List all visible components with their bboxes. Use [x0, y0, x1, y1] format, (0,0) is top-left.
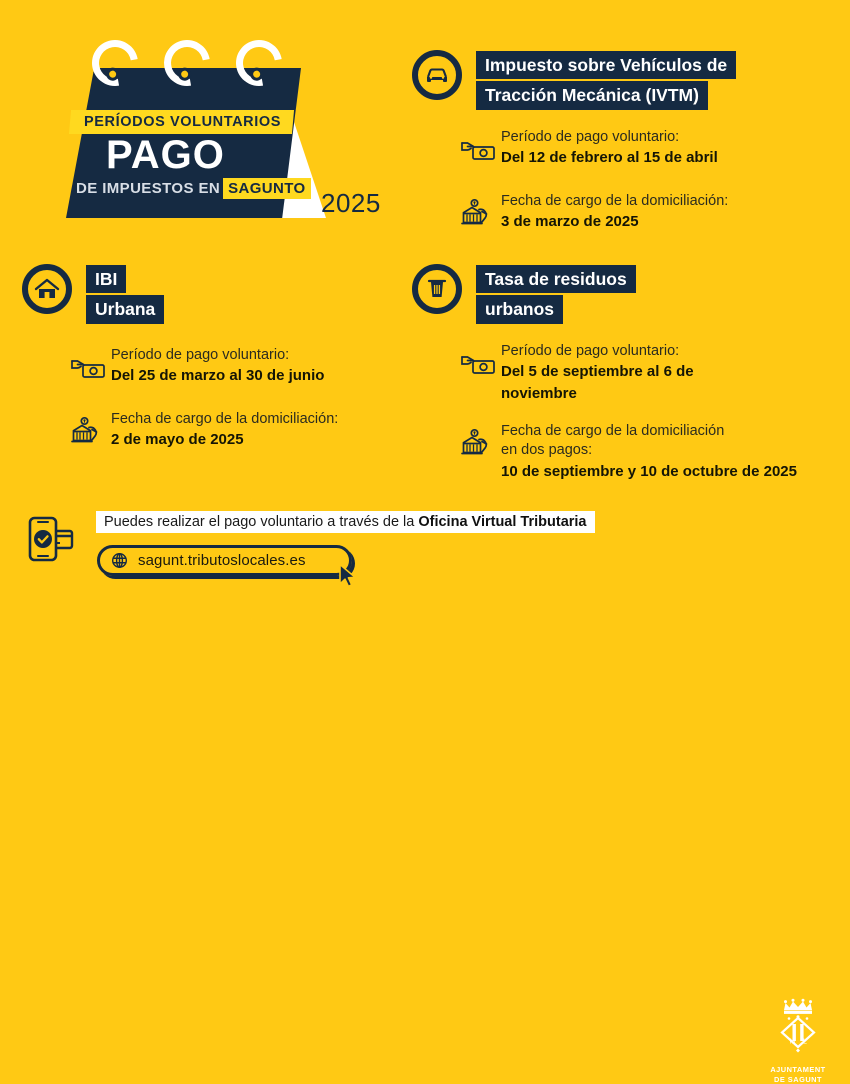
detail-label: Fecha de cargo de la domiciliación:	[111, 410, 338, 430]
hand-money-icon	[455, 342, 501, 384]
footer-message: Puedes realizar el pago voluntario a tra…	[96, 511, 595, 533]
detail-value: 3 de marzo de 2025	[501, 212, 728, 232]
detail-value: 2 de mayo de 2025	[111, 430, 338, 450]
section-residuos-title: Tasa de residuos urbanos	[476, 264, 636, 326]
detail-value: 10 de septiembre y 10 de octubre de 2025	[501, 462, 797, 482]
infographic-canvas: PERÍODOS VOLUNTARIOS PAGO DE IMPUESTOS E…	[0, 0, 850, 615]
cursor-arrow-icon	[338, 563, 358, 594]
crest-letter-m: M	[790, 1039, 796, 1046]
sagunt-crest-icon: M L	[767, 997, 829, 1057]
bank-payment-icon	[455, 422, 501, 464]
section-ivtm-title: Impuesto sobre Vehículos de Tracción Mec…	[476, 50, 736, 112]
detail-label: Fecha de cargo de la domiciliación	[501, 422, 797, 442]
section-ibi-title: IBI Urbana	[86, 264, 164, 326]
detail-row: Período de pago voluntario: Del 25 de ma…	[65, 346, 402, 388]
section-residuos-header: Tasa de residuos urbanos	[412, 264, 842, 326]
section-ivtm: Impuesto sobre Vehículos de Tracción Mec…	[412, 50, 832, 234]
header-subtitle-plain: DE IMPUESTOS EN	[76, 180, 220, 197]
detail-label: Período de pago voluntario:	[501, 128, 718, 148]
crest-letter-l: L	[803, 1039, 807, 1046]
detail-label: en dos pagos:	[501, 441, 797, 461]
detail-value: noviembre	[501, 384, 694, 404]
detail-row-text: Período de pago voluntario: Del 5 de sep…	[501, 342, 694, 404]
section-title-line: IBI	[86, 265, 126, 293]
header-subtitle: DE IMPUESTOS ENSAGUNTO	[75, 180, 311, 197]
detail-label: Período de pago voluntario:	[111, 346, 324, 366]
section-title-line: Tasa de residuos	[476, 265, 636, 293]
detail-value: Del 12 de febrero al 15 de abril	[501, 148, 718, 168]
header-eyebrow-text: PERÍODOS VOLUNTARIOS	[84, 114, 281, 130]
detail-label: Período de pago voluntario:	[501, 342, 694, 362]
detail-row: Fecha de cargo de la domiciliación en do…	[455, 422, 842, 482]
detail-row: Fecha de cargo de la domiciliación: 2 de…	[65, 410, 402, 452]
detail-row-text: Período de pago voluntario: Del 25 de ma…	[111, 346, 324, 387]
footer-logo: M L AJUNTAMENT DE SAGUNT	[758, 997, 838, 1084]
section-title-line: Urbana	[86, 295, 164, 323]
section-title-line: Impuesto sobre Vehículos de	[476, 51, 736, 79]
trash-icon	[412, 264, 462, 314]
hand-money-icon	[65, 346, 111, 388]
detail-row: Fecha de cargo de la domiciliación: 3 de…	[455, 192, 832, 234]
footer-message-prefix: Puedes realizar el pago voluntario a tra…	[104, 514, 418, 530]
detail-row-text: Período de pago voluntario: Del 12 de fe…	[501, 128, 718, 169]
detail-row-text: Fecha de cargo de la domiciliación: 3 de…	[501, 192, 728, 233]
car-icon	[412, 50, 462, 100]
logo-line-2: DE SAGUNT	[758, 1075, 838, 1084]
url-text: sagunt.tributoslocales.es	[138, 552, 306, 569]
section-title-line: urbanos	[476, 295, 563, 323]
url-button[interactable]: sagunt.tributoslocales.es	[97, 545, 352, 576]
detail-row-text: Fecha de cargo de la domiciliación en do…	[501, 422, 797, 482]
detail-row: Período de pago voluntario: Del 12 de fe…	[455, 128, 832, 170]
header-subtitle-highlight: SAGUNTO	[223, 178, 311, 199]
section-ibi: IBI Urbana Período de pago voluntario:	[22, 264, 402, 452]
mobile-payment-icon	[26, 513, 82, 570]
header-year: 2025	[321, 188, 381, 219]
detail-label: Fecha de cargo de la domiciliación:	[501, 192, 728, 212]
detail-value: Del 5 de septiembre al 6 de	[501, 362, 694, 382]
bank-payment-icon	[65, 410, 111, 452]
header-calendar: PERÍODOS VOLUNTARIOS PAGO DE IMPUESTOS E…	[58, 28, 378, 218]
hand-money-icon	[455, 128, 501, 170]
page-title: PAGO	[106, 135, 225, 175]
bank-payment-icon	[455, 192, 501, 234]
footer: Puedes realizar el pago voluntario a tra…	[0, 497, 850, 615]
detail-value: Del 25 de marzo al 30 de junio	[111, 366, 324, 386]
section-title-line: Tracción Mecánica (IVTM)	[476, 81, 708, 109]
section-residuos: Tasa de residuos urbanos Período de pago…	[412, 264, 842, 482]
section-ivtm-header: Impuesto sobre Vehículos de Tracción Mec…	[412, 50, 832, 112]
detail-row-text: Fecha de cargo de la domiciliación: 2 de…	[111, 410, 338, 451]
header-eyebrow: PERÍODOS VOLUNTARIOS	[69, 110, 294, 134]
logo-line-1: AJUNTAMENT	[758, 1065, 838, 1075]
globe-icon	[111, 552, 128, 569]
detail-row: Período de pago voluntario: Del 5 de sep…	[455, 342, 842, 404]
section-ibi-header: IBI Urbana	[22, 264, 402, 326]
footer-message-bold: Oficina Virtual Tributaria	[418, 514, 586, 530]
house-icon	[22, 264, 72, 314]
